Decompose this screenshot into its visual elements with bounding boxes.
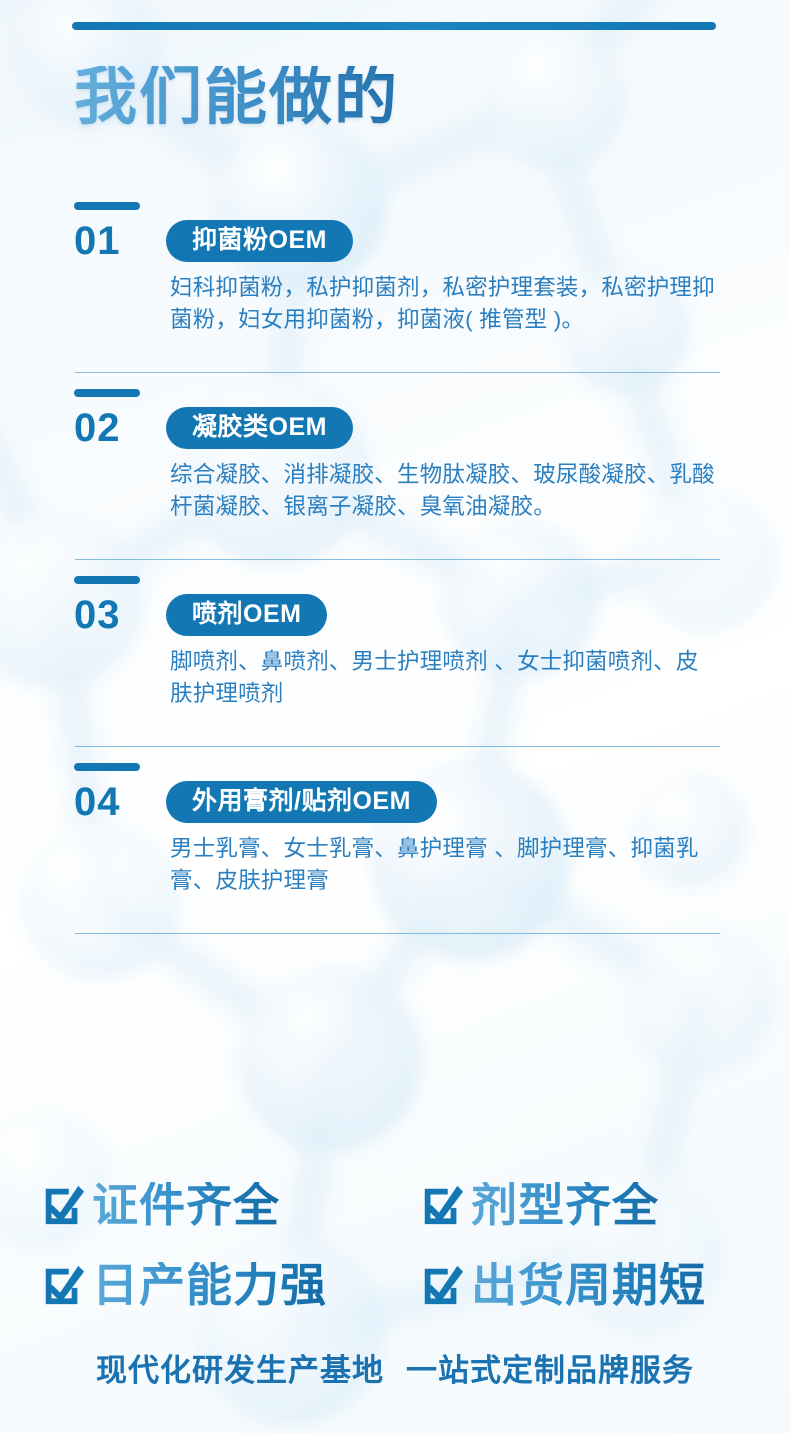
capability-section-03: 03 喷剂OEM 脚喷剂、鼻喷剂、男士护理喷剂 、女士抑菌喷剂、皮肤护理喷剂 [0, 560, 790, 746]
section-description: 男士乳膏、女士乳膏、鼻护理膏 、脚护理膏、抑菌乳膏、皮肤护理膏 [170, 833, 720, 897]
feature-label: 日产能力强 [92, 1262, 327, 1308]
section-badge[interactable]: 抑菌粉OEM [166, 220, 353, 262]
section-badge[interactable]: 外用膏剂/贴剂OEM [166, 781, 437, 823]
section-dash-icon [74, 202, 140, 210]
section-number: 01 [74, 221, 148, 261]
section-badge[interactable]: 凝胶类OEM [166, 407, 353, 449]
feature-item: 证件齐全 [40, 1168, 395, 1242]
checkbox-check-icon [40, 1262, 86, 1308]
section-number: 02 [74, 408, 148, 448]
checkbox-check-icon [40, 1182, 86, 1228]
promo-page: 我们能做的 01 抑菌粉OEM 妇科抑菌粉，私护抑菌剂，私密护理套装，私密护理抑… [0, 0, 790, 1433]
feature-item: 出货周期短 [395, 1248, 750, 1322]
section-description: 综合凝胶、消排凝胶、生物肽凝胶、玻尿酸凝胶、乳酸杆菌凝胶、银离子凝胶、臭氧油凝胶… [170, 459, 720, 523]
capability-section-04: 04 外用膏剂/贴剂OEM 男士乳膏、女士乳膏、鼻护理膏 、脚护理膏、抑菌乳膏、… [0, 747, 790, 933]
feature-label: 出货周期短 [471, 1262, 706, 1308]
top-rule [72, 22, 716, 30]
checkbox-check-icon [419, 1182, 465, 1228]
section-dash-icon [74, 389, 140, 397]
section-description: 脚喷剂、鼻喷剂、男士护理喷剂 、女士抑菌喷剂、皮肤护理喷剂 [170, 646, 720, 710]
section-divider [75, 933, 720, 934]
page-title: 我们能做的 [74, 66, 399, 129]
capability-section-01: 01 抑菌粉OEM 妇科抑菌粉，私护抑菌剂，私密护理套装，私密护理抑菌粉，妇女用… [0, 186, 790, 372]
feature-label: 剂型齐全 [471, 1182, 659, 1228]
tagline-right: 一站式定制品牌服务 [406, 1353, 694, 1388]
feature-grid: 证件齐全 剂型齐全 日产能力强 出货周期短 [0, 1168, 790, 1322]
section-dash-icon [74, 576, 140, 584]
section-dash-icon [74, 763, 140, 771]
feature-item: 日产能力强 [40, 1248, 395, 1322]
capability-list: 01 抑菌粉OEM 妇科抑菌粉，私护抑菌剂，私密护理套装，私密护理抑菌粉，妇女用… [0, 186, 790, 934]
feature-label: 证件齐全 [92, 1182, 280, 1228]
section-description: 妇科抑菌粉，私护抑菌剂，私密护理套装，私密护理抑菌粉，妇女用抑菌粉，抑菌液( 推… [170, 272, 720, 336]
checkbox-check-icon [419, 1262, 465, 1308]
capability-section-02: 02 凝胶类OEM 综合凝胶、消排凝胶、生物肽凝胶、玻尿酸凝胶、乳酸杆菌凝胶、银… [0, 373, 790, 559]
section-badge[interactable]: 喷剂OEM [166, 594, 327, 636]
tagline-left: 现代化研发生产基地 [96, 1353, 384, 1388]
section-number: 04 [74, 782, 148, 822]
footer-tagline: 现代化研发生产基地一站式定制品牌服务 [0, 1345, 790, 1390]
section-number: 03 [74, 595, 148, 635]
feature-item: 剂型齐全 [395, 1168, 750, 1242]
